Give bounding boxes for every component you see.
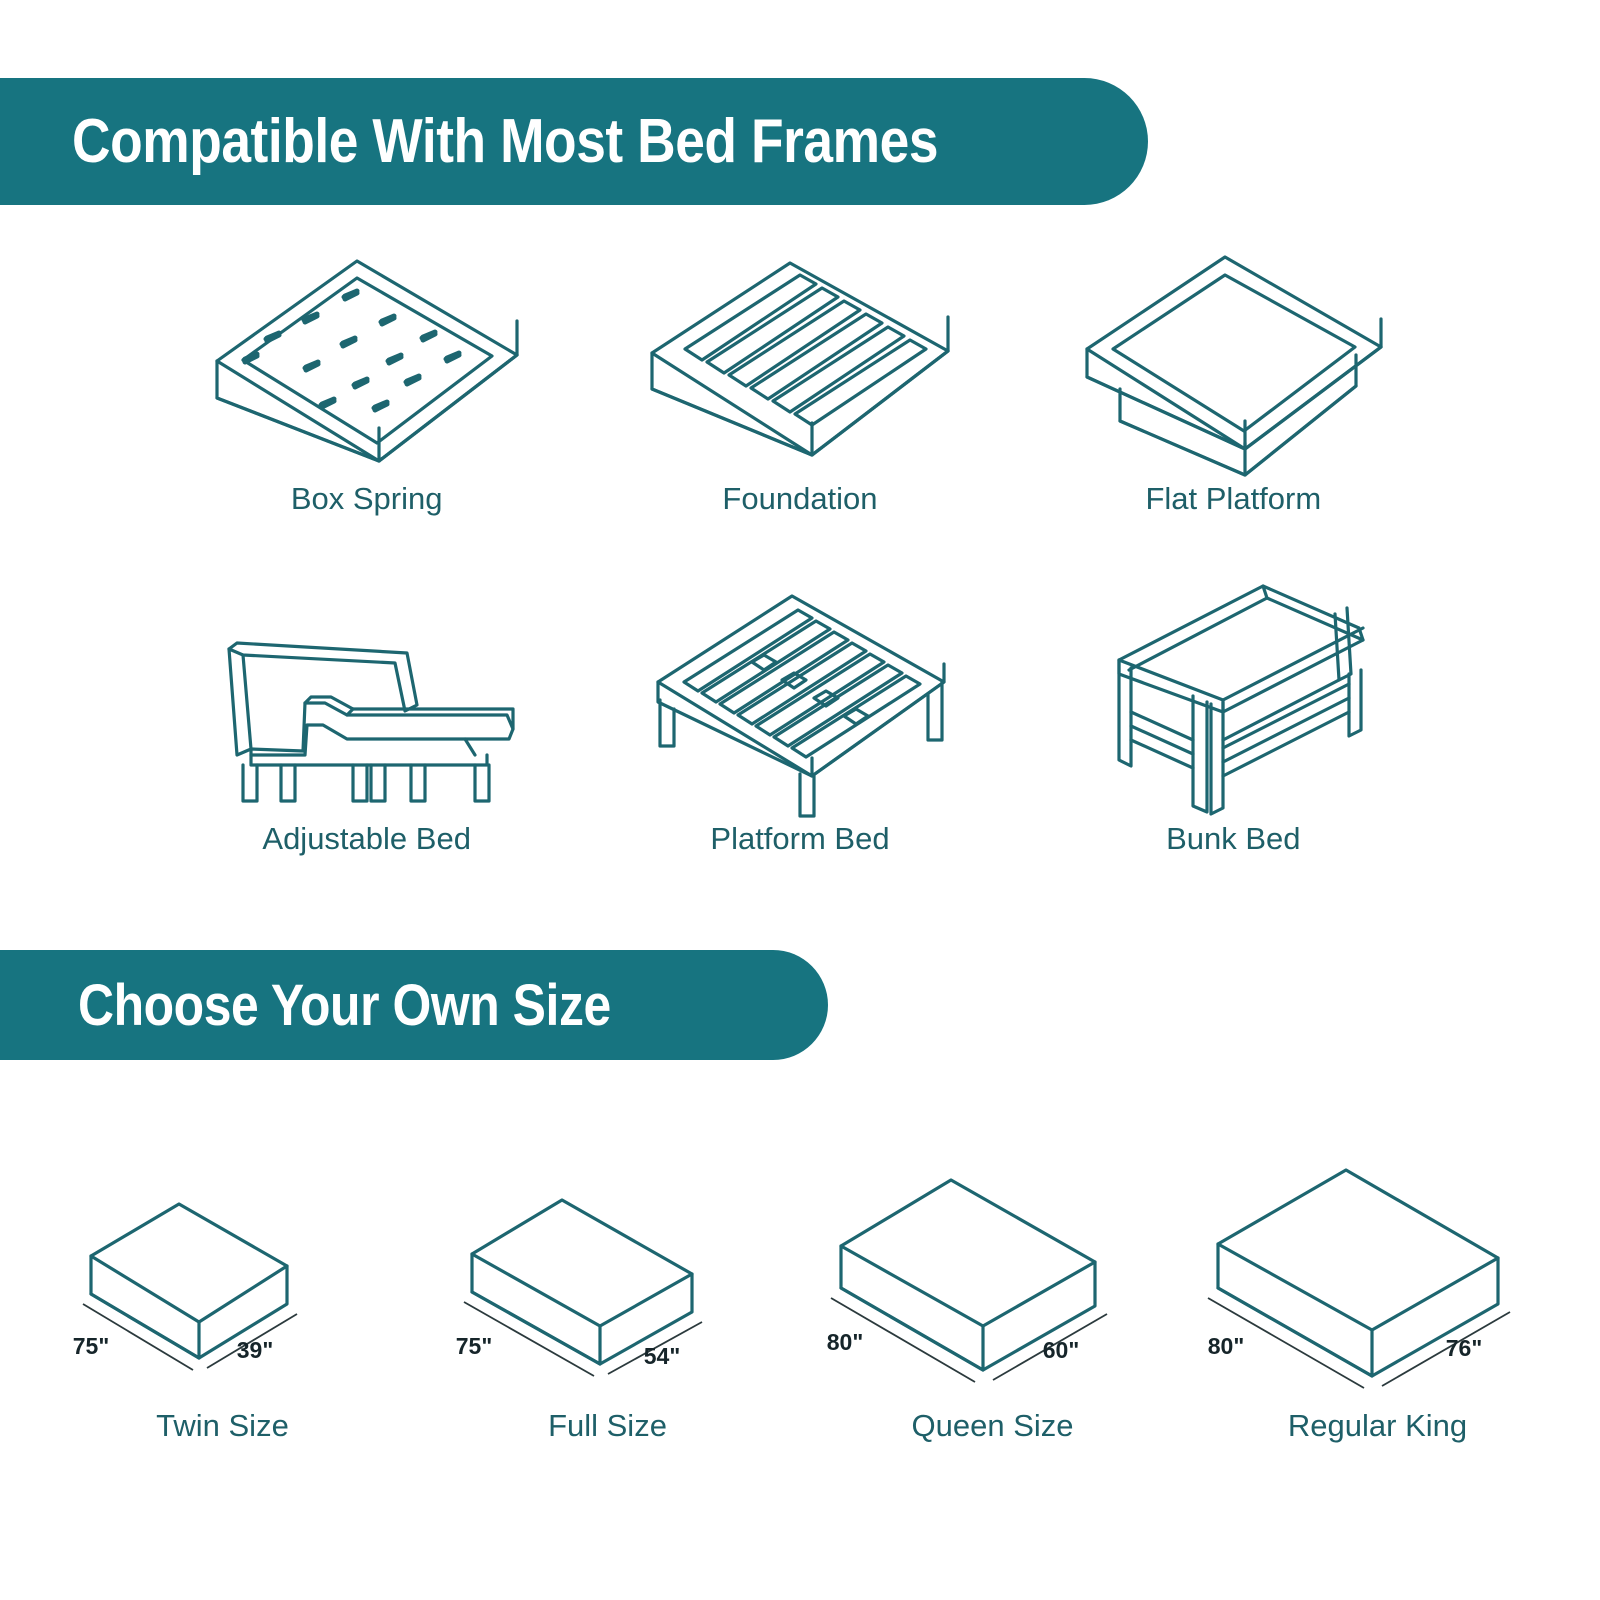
dim-length-twin: 75" [72, 1333, 109, 1359]
banner-choose-your-own-size: Choose Your Own Size [0, 950, 828, 1060]
dim-width-full: 54" [643, 1343, 680, 1369]
mattress-full-icon: 75" 54" [458, 1098, 758, 1398]
size-label-king: Regular King [1288, 1408, 1467, 1444]
size-item-full[interactable]: 75" 54" Full Size [415, 1098, 800, 1444]
dim-length-king: 80" [1207, 1333, 1244, 1359]
size-label-full: Full Size [548, 1408, 667, 1444]
foundation-icon [640, 240, 960, 475]
dim-width-queen: 60" [1042, 1337, 1079, 1363]
adjustable-bed-icon [207, 580, 527, 815]
bed-frames-row-top: Box Spring Foundation [150, 240, 1450, 517]
size-item-king[interactable]: 80" 76" Regular King [1185, 1098, 1570, 1444]
size-label-twin: Twin Size [156, 1408, 289, 1444]
flat-platform-icon [1073, 240, 1393, 475]
frame-label-box-spring: Box Spring [291, 481, 443, 517]
box-spring-icon [207, 240, 527, 475]
size-item-twin[interactable]: 75" 39" Twin Size [30, 1098, 415, 1444]
size-item-queen[interactable]: 80" 60" Queen Size [800, 1098, 1185, 1444]
bunk-bed-icon [1073, 580, 1393, 815]
dim-width-twin: 39" [236, 1337, 273, 1363]
mattress-twin-icon: 75" 39" [73, 1098, 373, 1398]
frame-item-platform-bed[interactable]: Platform Bed [583, 580, 1016, 857]
mattress-king-icon: 80" 76" [1198, 1098, 1558, 1398]
frame-label-flat-platform: Flat Platform [1145, 481, 1321, 517]
frame-item-adjustable-bed[interactable]: Adjustable Bed [150, 580, 583, 857]
frame-item-bunk-bed[interactable]: Bunk Bed [1017, 580, 1450, 857]
frame-label-platform-bed: Platform Bed [710, 821, 889, 857]
banner-frames-title: Compatible With Most Bed Frames [72, 106, 938, 177]
banner-size-title: Choose Your Own Size [78, 972, 611, 1039]
frame-item-flat-platform[interactable]: Flat Platform [1017, 240, 1450, 517]
platform-bed-icon [640, 580, 960, 815]
dim-length-full: 75" [455, 1333, 492, 1359]
mattress-sizes-row: 75" 39" Twin Size 75" 54" Full Size [30, 1098, 1570, 1444]
bed-frames-row-bottom: Adjustable Bed [150, 580, 1450, 857]
frame-item-foundation[interactable]: Foundation [583, 240, 1016, 517]
size-label-queen: Queen Size [912, 1408, 1074, 1444]
mattress-queen-icon: 80" 60" [823, 1098, 1163, 1398]
dim-length-queen: 80" [826, 1329, 863, 1355]
banner-compatible-bed-frames: Compatible With Most Bed Frames [0, 78, 1148, 205]
dim-width-king: 76" [1445, 1335, 1482, 1361]
frame-label-foundation: Foundation [722, 481, 877, 517]
frame-label-adjustable-bed: Adjustable Bed [262, 821, 471, 857]
frame-label-bunk-bed: Bunk Bed [1166, 821, 1300, 857]
frame-item-box-spring[interactable]: Box Spring [150, 240, 583, 517]
